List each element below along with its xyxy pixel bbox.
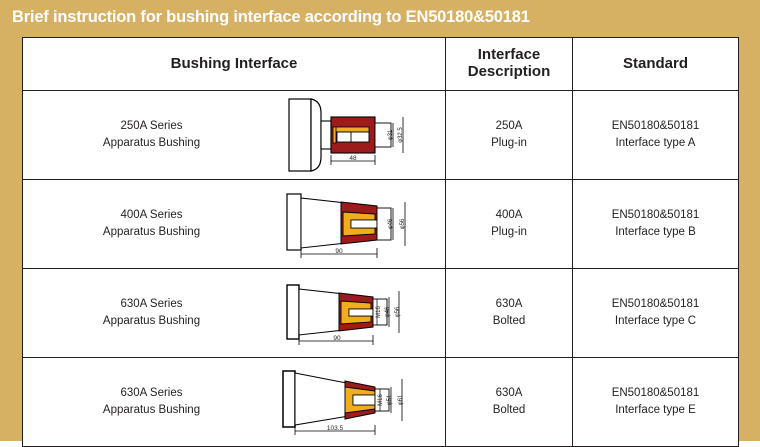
table-row: 250A Series Apparatus Bushing xyxy=(23,91,739,180)
page-root: Brief instruction for bushing interface … xyxy=(0,0,760,441)
cell-interface-description: 250A Plug-in xyxy=(446,91,573,180)
dim-thread: M16 xyxy=(376,306,382,318)
dim-outer-diameter: φ56 xyxy=(395,306,401,317)
column-header-standard: Standard xyxy=(573,38,739,91)
dim-length: 48 xyxy=(349,155,357,162)
dim-inner-diameter: φ51 xyxy=(387,394,393,405)
cell-standard: EN50180&50181 Interface type C xyxy=(573,269,739,358)
cell-interface-description: 630A Bolted xyxy=(446,358,573,447)
dim-outer-diameter: φ32.5 xyxy=(398,127,404,143)
drawing-630a-c-svg: 90 M16 φ46 φ56 xyxy=(281,273,431,353)
table-header-row: Bushing Interface Interface Description … xyxy=(23,38,739,91)
column-header-interface-description: Interface Description xyxy=(446,38,573,91)
cell-interface-description: 630A Bolted xyxy=(446,269,573,358)
cell-bushing-interface: 400A Series Apparatus Bushing xyxy=(23,180,446,269)
cell-bushing-interface: 250A Series Apparatus Bushing xyxy=(23,91,446,180)
bushing-drawing-630a-e: 103.5 M16 φ51 φ61 xyxy=(279,359,444,445)
dim-outer-diameter: φ56 xyxy=(400,218,406,229)
drawing-250a-svg: 48 φ31 φ32.5 xyxy=(281,95,431,175)
cell-standard: EN50180&50181 Interface type A xyxy=(573,91,739,180)
cell-bushing-interface: 630A Series Apparatus Bushing xyxy=(23,358,446,447)
bushing-drawing-630a-c: 90 M16 φ46 φ56 xyxy=(279,270,444,356)
series-name: 630A Series Apparatus Bushing xyxy=(24,385,279,420)
drawing-630a-e-svg: 103.5 M16 φ51 φ61 xyxy=(281,361,436,443)
dim-inner-diameter: φ46 xyxy=(388,218,394,229)
dim-length: 90 xyxy=(333,335,341,342)
drawing-400a-svg: 90 φ46 φ56 xyxy=(281,184,431,264)
bushing-interface-table: Bushing Interface Interface Description … xyxy=(22,37,739,447)
cell-standard: EN50180&50181 Interface type E xyxy=(573,358,739,447)
series-name: 400A Series Apparatus Bushing xyxy=(24,207,279,242)
series-name: 250A Series Apparatus Bushing xyxy=(24,118,279,153)
dim-inner-diameter: φ31 xyxy=(388,129,394,140)
title-bar: Brief instruction for bushing interface … xyxy=(0,0,760,34)
cell-standard: EN50180&50181 Interface type B xyxy=(573,180,739,269)
column-header-bushing-interface: Bushing Interface xyxy=(23,38,446,91)
page-title: Brief instruction for bushing interface … xyxy=(12,8,530,27)
cell-interface-description: 400A Plug-in xyxy=(446,180,573,269)
dim-inner-diameter: φ46 xyxy=(385,306,391,317)
dim-outer-diameter: φ61 xyxy=(398,394,404,405)
table-row: 400A Series Apparatus Bushing xyxy=(23,180,739,269)
series-name: 630A Series Apparatus Bushing xyxy=(24,296,279,331)
cell-bushing-interface: 630A Series Apparatus Bushing xyxy=(23,269,446,358)
table-row: 630A Series Apparatus Bushing xyxy=(23,358,739,447)
dim-length: 90 xyxy=(335,248,343,255)
bushing-drawing-250a: 48 φ31 φ32.5 xyxy=(279,92,444,178)
bushing-drawing-400a: 90 φ46 φ56 xyxy=(279,181,444,267)
dim-thread: M16 xyxy=(378,394,384,406)
dim-length: 103.5 xyxy=(327,425,344,432)
table-row: 630A Series Apparatus Bushing xyxy=(23,269,739,358)
